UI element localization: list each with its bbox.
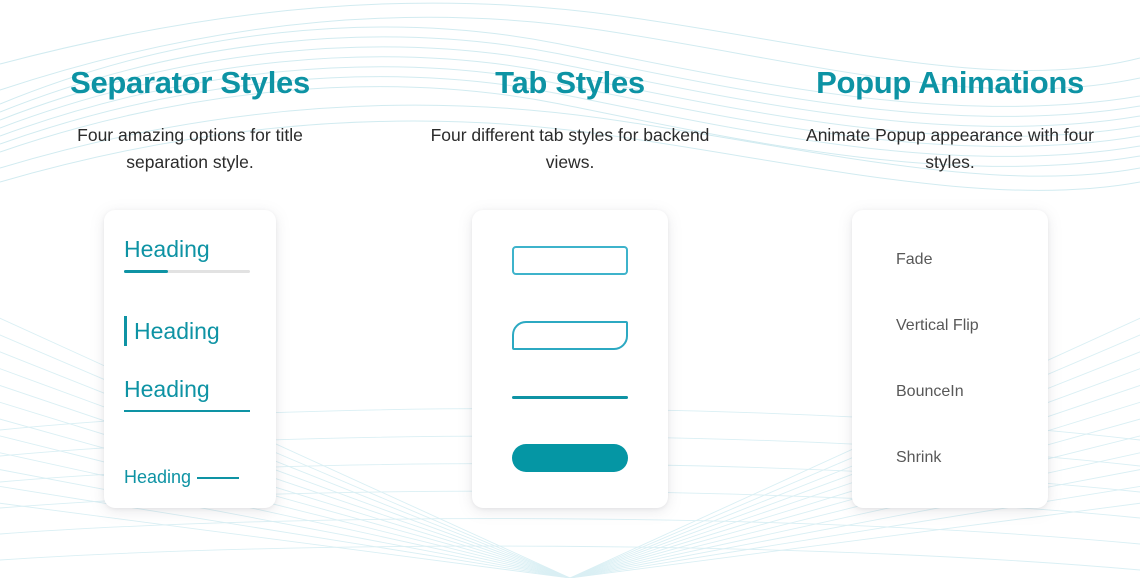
- tab-style-outlined-rectangle[interactable]: [512, 246, 628, 275]
- subtitle-popup-animations: Animate Popup appearance with four style…: [800, 122, 1100, 176]
- page-title-separator-styles: Separator Styles: [70, 66, 310, 100]
- tab-style-outlined-leaf[interactable]: [512, 321, 628, 350]
- popup-animation-option-bouncein[interactable]: BounceIn: [896, 384, 1048, 400]
- separator-heading-label: Heading: [124, 376, 256, 402]
- page-title-popup-animations: Popup Animations: [816, 66, 1084, 100]
- tab-style-underline-only[interactable]: [512, 396, 628, 399]
- separator-inline-line-graphic: [197, 477, 239, 479]
- page-title-tab-styles: Tab Styles: [495, 66, 645, 100]
- subtitle-tab-styles: Four different tab styles for backend vi…: [420, 122, 720, 176]
- separator-rail-graphic: [124, 270, 250, 273]
- card-separator-styles: Heading Heading Heading Heading: [104, 210, 276, 508]
- separator-option-left-bar[interactable]: Heading: [124, 299, 256, 362]
- separator-option-inline-line[interactable]: Heading: [124, 425, 256, 488]
- column-tab-styles: Tab Styles Four different tab styles for…: [380, 0, 760, 578]
- card-popup-animations: Fade Vertical Flip BounceIn Shrink: [852, 210, 1048, 508]
- feature-columns: Separator Styles Four amazing options fo…: [0, 0, 1140, 578]
- separator-heading-label: Heading: [124, 236, 256, 262]
- column-separator-styles: Separator Styles Four amazing options fo…: [0, 0, 380, 578]
- column-popup-animations: Popup Animations Animate Popup appearanc…: [760, 0, 1140, 578]
- separator-heading-label: Heading: [134, 318, 220, 344]
- popup-animation-option-fade[interactable]: Fade: [896, 252, 1048, 268]
- popup-animation-option-shrink[interactable]: Shrink: [896, 450, 1048, 466]
- separator-heading-label: Heading: [124, 467, 191, 488]
- separator-option-full-underline[interactable]: Heading: [124, 362, 256, 425]
- separator-underline-graphic: [124, 410, 250, 412]
- separator-option-partial-underline[interactable]: Heading: [124, 236, 256, 299]
- subtitle-separator-styles: Four amazing options for title separatio…: [40, 122, 340, 176]
- card-tab-styles: [472, 210, 668, 508]
- popup-animation-option-vertical-flip[interactable]: Vertical Flip: [896, 318, 1048, 334]
- tab-style-filled-pill[interactable]: [512, 444, 628, 472]
- separator-vertical-bar-graphic: [124, 316, 127, 346]
